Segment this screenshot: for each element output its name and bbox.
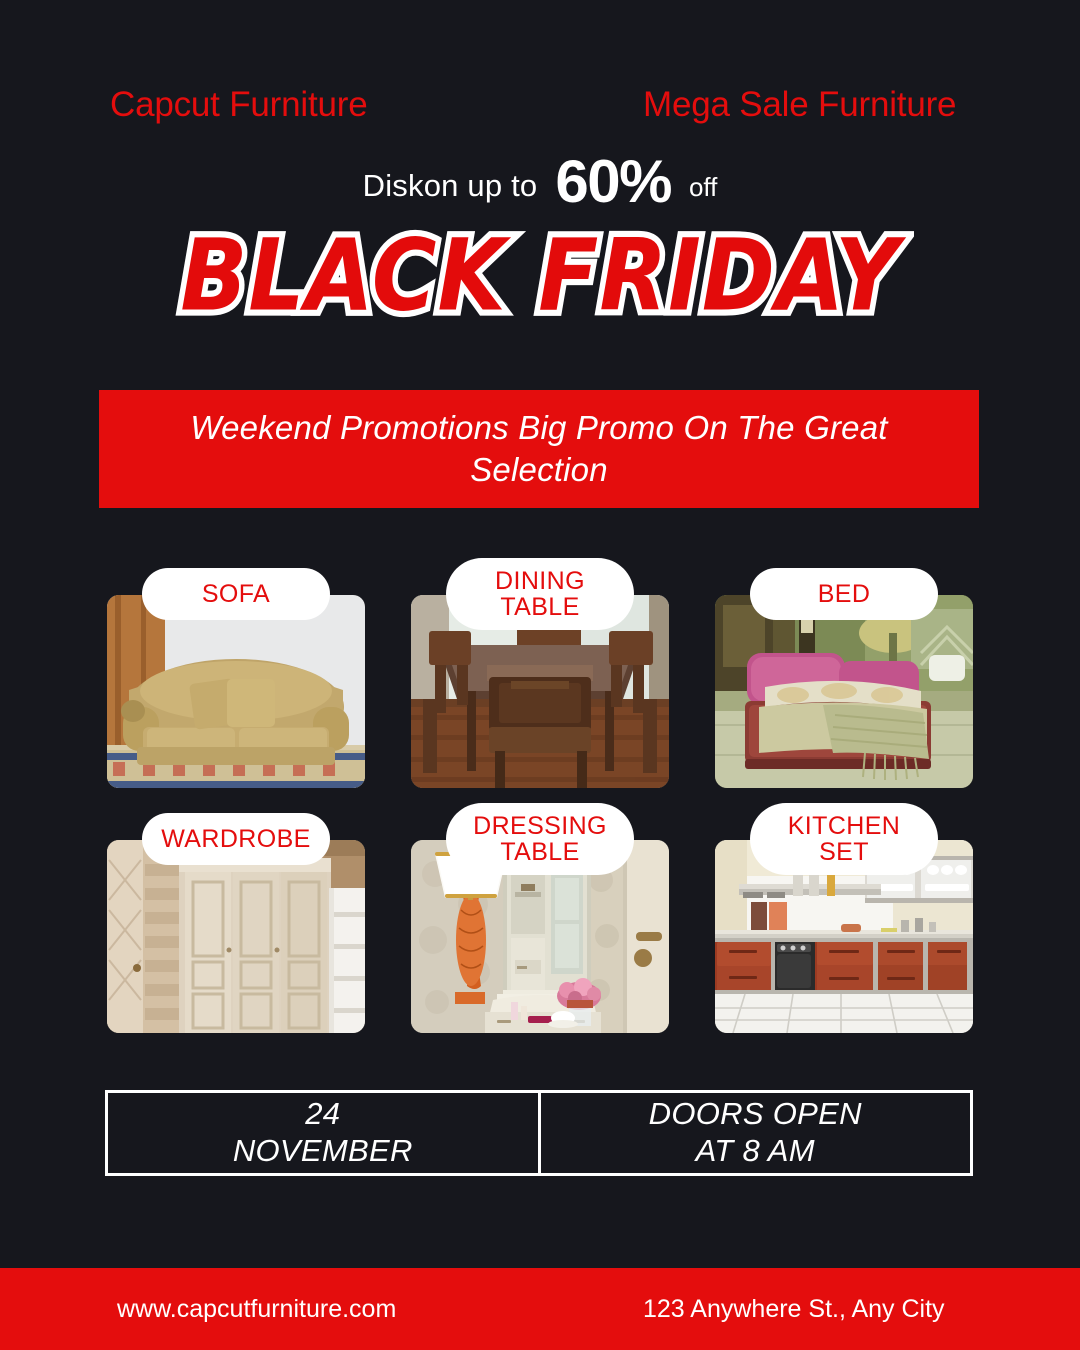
product-label-dining-table: DININGTABLE bbox=[446, 558, 634, 630]
discount-label: Diskon up to bbox=[363, 168, 538, 204]
footer-website[interactable]: www.capcutfurniture.com bbox=[117, 1295, 396, 1324]
product-grid: SOFA bbox=[107, 595, 973, 1033]
event-date-box: 24NOVEMBER bbox=[108, 1093, 538, 1173]
sofa-photo bbox=[107, 595, 365, 788]
black-friday-title: BLACK FRIDAY bbox=[180, 227, 899, 326]
product-label-bed: BED bbox=[750, 568, 938, 620]
product-card-kitchen-set[interactable]: KITCHENSET bbox=[715, 840, 973, 1033]
header: Capcut Furniture Mega Sale Furniture bbox=[0, 85, 1080, 135]
product-card-sofa[interactable]: SOFA bbox=[107, 595, 365, 788]
product-card-wardrobe[interactable]: WARDROBE bbox=[107, 840, 365, 1033]
event-info-row: 24NOVEMBER DOORS OPENAT 8 AM bbox=[105, 1090, 973, 1176]
footer-address: 123 Anywhere St., Any City bbox=[643, 1295, 945, 1324]
product-label-sofa: SOFA bbox=[142, 568, 330, 620]
product-card-dining-table[interactable]: DININGTABLE bbox=[411, 595, 669, 788]
product-label-dressing-table: DRESSINGTABLE bbox=[446, 803, 634, 875]
promo-text: Weekend Promotions Big Promo On The Grea… bbox=[159, 407, 919, 491]
product-card-dressing-table[interactable]: DRESSINGTABLE bbox=[411, 840, 669, 1033]
discount-value: 60% bbox=[555, 153, 671, 210]
discount-suffix: off bbox=[689, 172, 717, 203]
wardrobe-photo bbox=[107, 840, 365, 1033]
promo-banner: Weekend Promotions Big Promo On The Grea… bbox=[99, 390, 979, 508]
footer-bar: www.capcutfurniture.com 123 Anywhere St.… bbox=[0, 1268, 1080, 1350]
product-label-wardrobe: WARDROBE bbox=[142, 813, 330, 865]
bed-photo bbox=[715, 595, 973, 788]
discount-row: Diskon up to 60% off bbox=[0, 147, 1080, 204]
black-friday-title-wrap: BLACK FRIDAY bbox=[0, 232, 1080, 320]
brand-left-title: Capcut Furniture bbox=[110, 85, 367, 125]
doors-open-box: DOORS OPENAT 8 AM bbox=[538, 1093, 971, 1173]
brand-right-title: Mega Sale Furniture bbox=[643, 85, 956, 125]
product-label-kitchen-set: KITCHENSET bbox=[750, 803, 938, 875]
product-card-bed[interactable]: BED bbox=[715, 595, 973, 788]
